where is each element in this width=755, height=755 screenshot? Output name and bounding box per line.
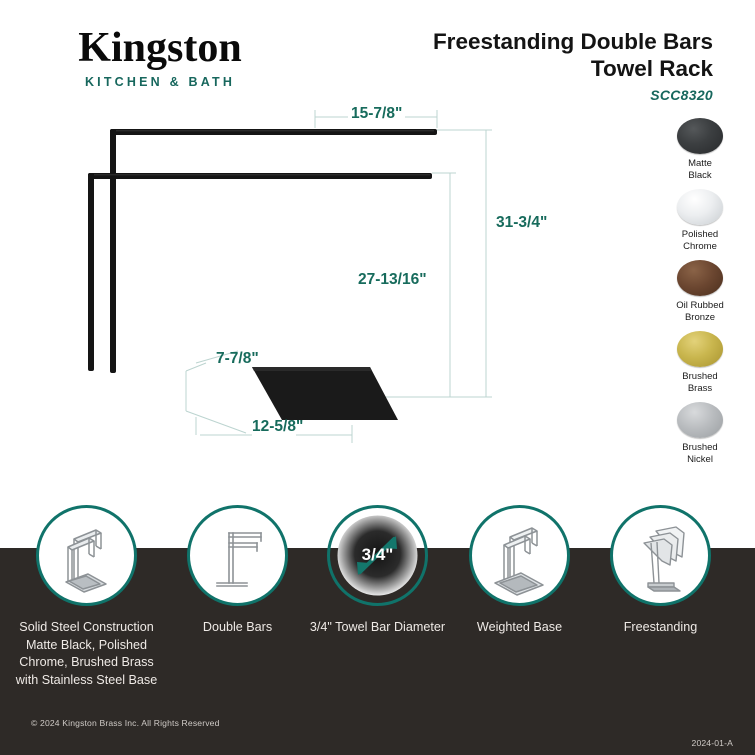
towel-rack-line-drawing [0, 95, 660, 465]
feature-label: Solid Steel Construction Matte Black, Po… [11, 619, 162, 689]
feature-label: Freestanding [585, 619, 736, 637]
finish-label-line2: Bronze [658, 312, 742, 324]
feature-icon-circle [36, 505, 137, 606]
feature-weighted-base[interactable]: Weighted Base [444, 505, 595, 637]
freestanding-icon [618, 513, 704, 599]
swatch-brushed-nickel-icon [677, 402, 723, 438]
dimension-base-width: 12-5/8" [252, 418, 303, 436]
feature-freestanding[interactable]: Freestanding [585, 505, 736, 637]
dimension-lower-bar-height: 27-13/16" [358, 271, 427, 289]
finish-label: Brushed Nickel [658, 442, 742, 465]
finish-option-oil-rubbed-bronze[interactable]: Oil Rubbed Bronze [658, 260, 742, 323]
finish-label: Oil Rubbed Bronze [658, 300, 742, 323]
bar-diameter-icon: 3/4" [330, 508, 425, 603]
finish-label-line2: Chrome [658, 241, 742, 253]
product-title-line1: Freestanding Double Bars [313, 28, 713, 55]
double-bars-icon [195, 513, 281, 599]
upper-bar-assembly [110, 129, 437, 373]
finish-option-brushed-brass[interactable]: Brushed Brass [658, 331, 742, 394]
finish-label: Matte Black [658, 158, 742, 181]
swatch-matte-black-icon [677, 118, 723, 154]
feature-label: Weighted Base [444, 619, 595, 637]
brand-name: Kingston [30, 26, 290, 70]
feature-list: Solid Steel Construction Matte Black, Po… [0, 497, 755, 707]
finish-label-line1: Oil Rubbed [658, 300, 742, 312]
product-title-line2: Towel Rack [313, 55, 713, 82]
towel-rack-3d-icon [44, 513, 130, 599]
feature-solid-steel-construction[interactable]: Solid Steel Construction Matte Black, Po… [11, 505, 162, 689]
dimension-top-bar-width: 15-7/8" [351, 105, 402, 123]
finish-label-line2: Nickel [658, 454, 742, 466]
finish-label-line1: Matte [658, 158, 742, 170]
finish-swatch-list: Matte Black Polished Chrome Oil Rubbed B… [658, 118, 742, 473]
swatch-polished-chrome-icon [677, 189, 723, 225]
brand-logo: Kingston KITCHEN & BATH [30, 26, 290, 89]
brand-tagline: KITCHEN & BATH [30, 75, 290, 89]
product-title-block: Freestanding Double Bars Towel Rack SCC8… [313, 28, 713, 103]
finish-label: Polished Chrome [658, 229, 742, 252]
feature-icon-circle [187, 505, 288, 606]
feature-double-bars[interactable]: Double Bars [162, 505, 313, 637]
finish-label-line1: Polished [658, 229, 742, 241]
dimension-base-depth: 7-7/8" [216, 350, 259, 368]
base-plate [252, 367, 398, 420]
finish-option-brushed-nickel[interactable]: Brushed Nickel [658, 402, 742, 465]
feature-icon-circle [610, 505, 711, 606]
feature-icon-circle [469, 505, 570, 606]
finish-option-matte-black[interactable]: Matte Black [658, 118, 742, 181]
feature-bar-diameter[interactable]: 3/4" 3/4" Towel Bar Diameter [302, 505, 453, 637]
swatch-oil-rubbed-bronze-icon [677, 260, 723, 296]
diameter-badge-text: 3/4" [362, 545, 394, 564]
finish-label-line2: Black [658, 170, 742, 182]
weighted-base-icon [477, 513, 563, 599]
finish-label-line1: Brushed [658, 371, 742, 383]
footer-revision: 2024-01-A [692, 738, 733, 748]
feature-label: 3/4" Towel Bar Diameter [302, 619, 453, 637]
finish-label-line2: Brass [658, 383, 742, 395]
finish-option-polished-chrome[interactable]: Polished Chrome [658, 189, 742, 252]
footer-copyright: © 2024 Kingston Brass Inc. All Rights Re… [31, 718, 220, 728]
feature-icon-circle: 3/4" [327, 505, 428, 606]
dimension-overall-height: 31-3/4" [496, 214, 547, 232]
finish-label: Brushed Brass [658, 371, 742, 394]
product-spec-sheet: Kingston KITCHEN & BATH Freestanding Dou… [0, 0, 755, 755]
feature-label: Double Bars [162, 619, 313, 637]
swatch-brushed-brass-icon [677, 331, 723, 367]
finish-label-line1: Brushed [658, 442, 742, 454]
technical-drawing: 15-7/8" 31-3/4" 27-13/16" 7-7/8" 12-5/8" [0, 95, 660, 465]
